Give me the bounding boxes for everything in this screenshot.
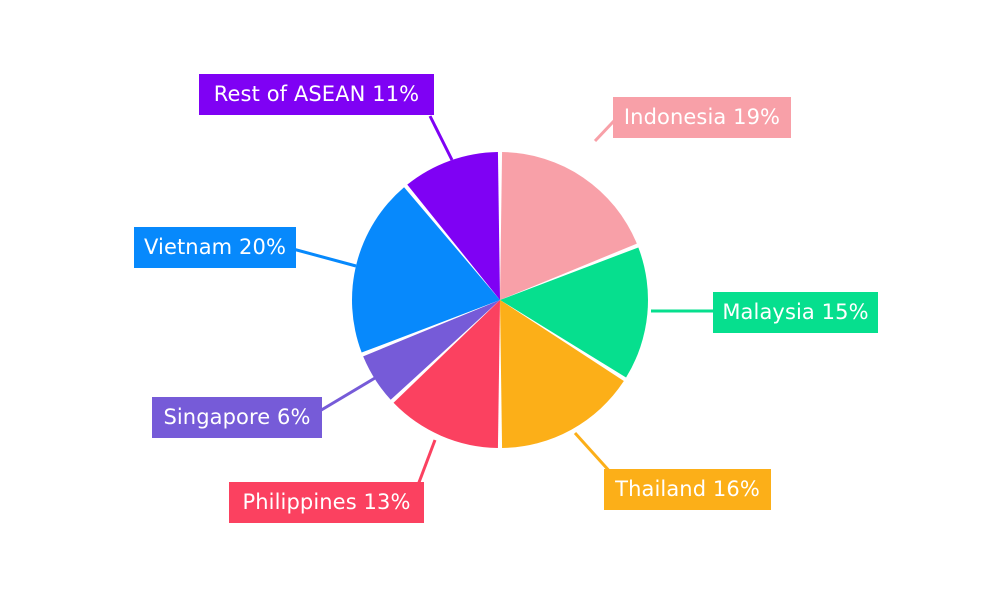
leader-line-vietnam (293, 249, 356, 266)
slice-label-rest-of-asean[interactable]: Rest of ASEAN 11% (199, 74, 434, 115)
slice-label-vietnam[interactable]: Vietnam 20% (134, 227, 296, 268)
pie-chart: Indonesia 19%Malaysia 15%Thailand 16%Phi… (0, 0, 1000, 600)
slice-label-indonesia[interactable]: Indonesia 19% (613, 97, 791, 138)
leader-line-rest-of-asean (430, 116, 452, 160)
leader-line-philippines (418, 440, 435, 485)
slice-label-thailand[interactable]: Thailand 16% (604, 469, 771, 510)
slice-label-malaysia[interactable]: Malaysia 15% (713, 292, 878, 333)
leader-line-thailand (575, 433, 612, 474)
leader-line-singapore (318, 378, 375, 412)
slice-label-philippines[interactable]: Philippines 13% (229, 482, 424, 523)
pie-slices (352, 152, 648, 448)
slice-label-singapore[interactable]: Singapore 6% (152, 397, 322, 438)
